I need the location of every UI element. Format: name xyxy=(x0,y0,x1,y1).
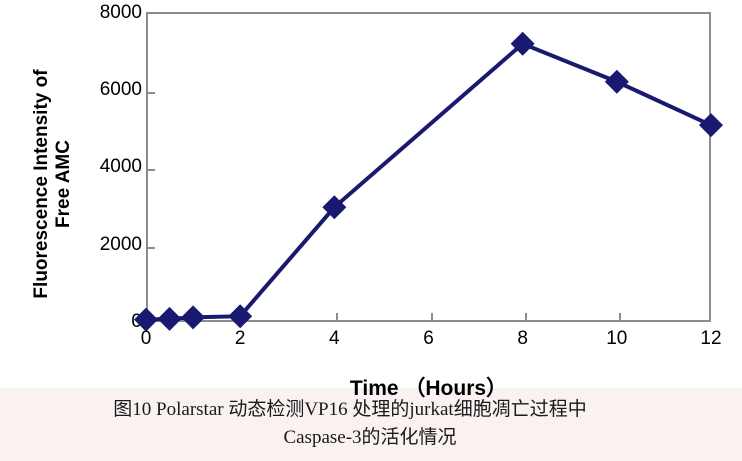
x-tick-mark-8 xyxy=(525,313,527,320)
x-tick-label-0: 0 xyxy=(141,328,152,350)
y-tick-label-6000: 6000 xyxy=(64,79,142,101)
y-axis-tick-labels: 0 2000 4000 6000 8000 xyxy=(60,0,142,388)
y-axis-title-line-1: Fluorescence Intensity of xyxy=(31,69,53,298)
x-tick-mark-10 xyxy=(619,313,621,320)
x-tick-label-12: 12 xyxy=(700,328,721,350)
x-tick-mark-6 xyxy=(431,313,433,320)
y-tick-label-8000: 8000 xyxy=(64,2,142,24)
figure-caption-line-2: Caspase-3的活化情况 xyxy=(0,424,700,452)
y-tick-mark-6000 xyxy=(148,92,155,94)
x-tick-mark-4 xyxy=(336,313,338,320)
x-tick-label-2: 2 xyxy=(235,328,246,350)
x-tick-label-4: 4 xyxy=(329,328,340,350)
x-tick-label-8: 8 xyxy=(517,328,528,350)
figure-caption: 图10 Polarstar 动态检测VP16 处理的jurkat细胞凋亡过程中 … xyxy=(0,396,700,451)
y-tick-mark-4000 xyxy=(148,169,155,171)
plot-frame xyxy=(146,12,711,322)
y-tick-label-0: 0 xyxy=(64,311,142,333)
y-tick-label-2000: 2000 xyxy=(64,234,142,256)
figure-root: Fluorescence Intensity of Free AMC 0 200… xyxy=(0,0,742,461)
y-tick-mark-2000 xyxy=(148,247,155,249)
x-axis-tick-labels: 0 2 4 6 8 10 12 xyxy=(146,328,711,354)
y-tick-label-4000: 4000 xyxy=(64,156,142,178)
figure-caption-line-1: 图10 Polarstar 动态检测VP16 处理的jurkat细胞凋亡过程中 xyxy=(0,396,700,424)
x-tick-label-10: 10 xyxy=(606,328,627,350)
x-tick-label-6: 6 xyxy=(423,328,434,350)
x-tick-mark-2 xyxy=(242,313,244,320)
